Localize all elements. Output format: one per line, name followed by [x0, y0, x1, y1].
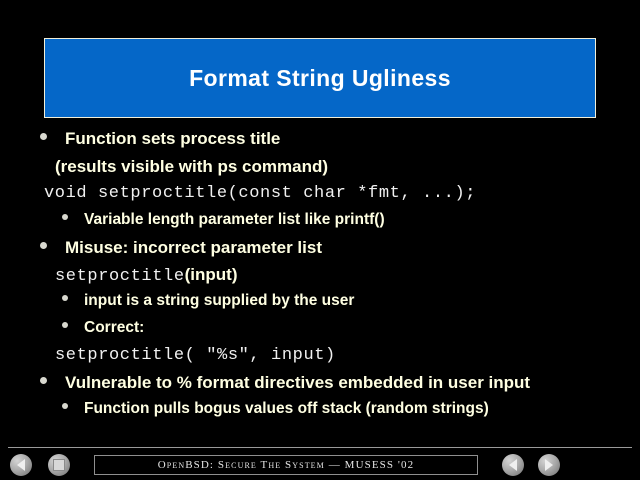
page-title: Format String Ugliness — [189, 65, 451, 92]
bullet-dot-icon — [62, 403, 68, 409]
code-label: setproctitle — [55, 268, 185, 285]
bullet-dot-icon — [62, 295, 68, 301]
bullet-item: input is a string supplied by the user — [0, 293, 640, 320]
footer-caption-box: OpenBSD: Secure The System — MUSESS '02 — [94, 455, 478, 475]
bullet-label: input is a string supplied by the user — [84, 293, 354, 309]
bullet-dot-icon — [40, 133, 47, 140]
bullet-item: Correct: — [0, 320, 640, 347]
footer-caption: OpenBSD: Secure The System — MUSESS '02 — [158, 459, 414, 471]
bullet-item: Variable length parameter list like prin… — [0, 212, 640, 239]
bullet-item: Function sets process title — [0, 130, 640, 158]
bullet-dot-icon — [40, 242, 47, 249]
home-button[interactable] — [48, 454, 70, 476]
bullet-label: Function sets process title — [65, 130, 280, 147]
bullet-label: Misuse: incorrect parameter list — [65, 239, 322, 256]
code-arg-label: (input) — [185, 266, 238, 283]
bullet-label: Vulnerable to % format directives embedd… — [65, 374, 530, 391]
bullet-label: Correct: — [84, 320, 144, 336]
next-slide-button[interactable] — [538, 454, 560, 476]
previous-slide-button[interactable] — [502, 454, 524, 476]
slide-body: Function sets process title (results vis… — [0, 130, 640, 430]
code-line: void setproctitle(const char *fmt, ...); — [0, 185, 640, 212]
bullet-label: Variable length parameter list like prin… — [84, 212, 385, 228]
bullet-item: Misuse: incorrect parameter list — [0, 239, 640, 266]
code-label: void setproctitle(const char *fmt, ...); — [44, 185, 476, 202]
text-label: (results visible with ps command) — [55, 158, 328, 175]
footer-divider — [8, 447, 632, 448]
bullet-dot-icon — [62, 214, 68, 220]
bullet-dot-icon — [40, 377, 47, 384]
text-line: (results visible with ps command) — [0, 158, 640, 185]
slide: Format String Ugliness Function sets pro… — [0, 0, 640, 480]
code-label: setproctitle( "%s", input) — [55, 347, 336, 364]
slide-title-banner: Format String Ugliness — [44, 38, 596, 118]
bullet-dot-icon — [62, 322, 68, 328]
code-line-mixed: setproctitle(input) — [0, 266, 640, 293]
bullet-item: Function pulls bogus values off stack (r… — [0, 401, 640, 428]
code-line: setproctitle( "%s", input) — [0, 347, 640, 374]
first-slide-button[interactable] — [10, 454, 32, 476]
bullet-item: Vulnerable to % format directives embedd… — [0, 374, 640, 401]
footer-bar: OpenBSD: Secure The System — MUSESS '02 — [0, 450, 640, 480]
bullet-label: Function pulls bogus values off stack (r… — [84, 401, 489, 417]
